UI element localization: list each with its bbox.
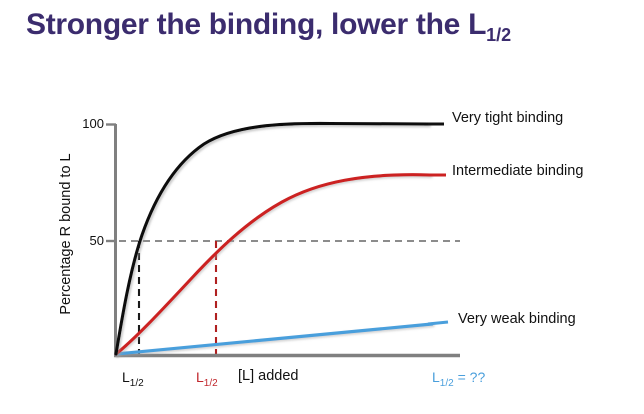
series-label-very-weak-binding: Very weak binding [458, 311, 576, 327]
series-label-intermediate-binding: Intermediate binding [452, 163, 583, 179]
annotation-lhalf-weak-sub: 1/2 [440, 378, 454, 389]
annotation-lhalf-intermediate: L1/2 [196, 369, 218, 389]
annotation-lhalf-weak-base: L [432, 369, 440, 385]
annotation-lhalf-tight: L1/2 [122, 369, 144, 389]
series-label-very-tight-binding: Very tight binding [452, 110, 563, 126]
annotation-lhalf-tight-sub: 1/2 [130, 378, 144, 389]
series-line-very-weak-binding [116, 324, 432, 354]
y-axis-title: Percentage R bound to L [58, 134, 74, 334]
binding-curve-chart: 100 50 Percentage R bound to L [L] added… [0, 0, 644, 414]
annotation-lhalf-intermediate-base: L [196, 369, 204, 385]
series-line-very-tight-binding [116, 123, 428, 354]
annotation-lhalf-weak: L1/2 = ?? [432, 369, 485, 389]
annotation-lhalf-tight-base: L [122, 369, 130, 385]
legend-dash-very-weak [428, 322, 448, 324]
x-axis-title: [L] added [238, 368, 298, 384]
slide-canvas: Stronger the binding, lower the L1/2 [0, 0, 644, 414]
annotation-lhalf-intermediate-sub: 1/2 [204, 378, 218, 389]
plot-svg [0, 0, 644, 414]
annotation-lhalf-weak-suffix: = ?? [454, 369, 486, 385]
y-axis-tick-label-100: 100 [62, 116, 104, 131]
